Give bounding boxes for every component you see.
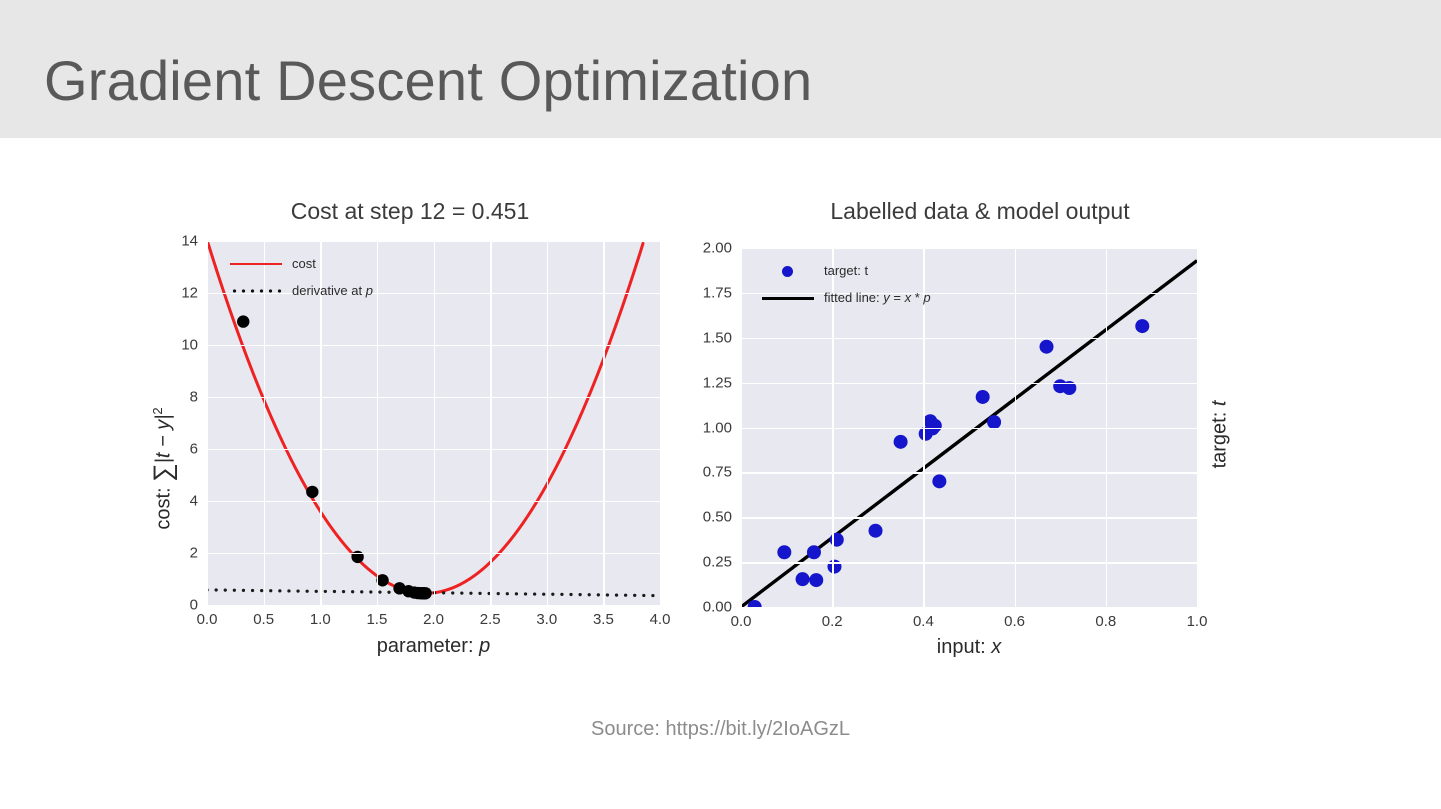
x-tick-label: 0.5 <box>253 611 274 628</box>
descent-step-point <box>419 587 431 599</box>
target-data-point <box>932 474 946 488</box>
target-data-point <box>1135 319 1149 333</box>
gridline-horizontal <box>741 338 1197 339</box>
gridline-horizontal <box>741 383 1197 384</box>
gridline-horizontal <box>741 428 1197 429</box>
gridline-horizontal <box>741 562 1197 563</box>
chart-panel-cost: Cost at step 12 = 0.451 cost: ∑|t − y|2 … <box>140 198 680 698</box>
y-tick-label: 8 <box>140 389 198 406</box>
legend-item-derivative: derivative at p <box>230 283 373 298</box>
x-tick-label: 0.6 <box>1004 613 1025 630</box>
target-data-point <box>777 545 791 559</box>
x-tick-label: 1.0 <box>1187 613 1208 630</box>
x-tick-label: 1.0 <box>310 611 331 628</box>
target-data-point <box>869 524 883 538</box>
x-tick-label: 1.5 <box>366 611 387 628</box>
descent-step-point <box>237 315 249 327</box>
gridline-vertical <box>1106 248 1107 607</box>
y-tick-label: 2.00 <box>700 240 732 257</box>
gridline-horizontal <box>741 248 1197 249</box>
y-tick-label: 0 <box>140 597 198 614</box>
legend-label-target: target: t <box>824 263 868 278</box>
x-axis-label-data: input: x <box>741 636 1197 659</box>
slide-canvas: Gradient Descent Optimization Cost at st… <box>0 0 1441 809</box>
legend-item-cost: cost <box>230 256 316 271</box>
gridline-vertical <box>603 241 604 605</box>
legend-data: target: t fitted line: y = x * p <box>762 263 1022 323</box>
y-axis-label-data-right: target: t <box>1209 370 1232 500</box>
legend-item-fitted-line: fitted line: y = x * p <box>762 290 931 305</box>
x-tick-label: 0.4 <box>913 613 934 630</box>
legend-item-target: target: t <box>762 263 868 278</box>
chart-title-data: Labelled data & model output <box>700 198 1260 225</box>
target-data-point <box>809 573 823 587</box>
chart-panel-data: Labelled data & model output 0.000.250.5… <box>700 198 1260 698</box>
y-tick-label: 1.25 <box>700 374 732 391</box>
figure-container: Cost at step 12 = 0.451 cost: ∑|t − y|2 … <box>0 138 1441 809</box>
x-axis-label-cost: parameter: p <box>207 635 660 658</box>
x-tick-label: 0.8 <box>1095 613 1116 630</box>
y-tick-label: 4 <box>140 493 198 510</box>
descent-step-point <box>306 486 318 498</box>
y-tick-label: 1.50 <box>700 329 732 346</box>
x-tick-label: 0.0 <box>731 613 752 630</box>
y-tick-label: 0.25 <box>700 554 732 571</box>
x-tick-label: 4.0 <box>650 611 671 628</box>
gridline-vertical <box>547 241 548 605</box>
y-tick-label: 1.75 <box>700 284 732 301</box>
x-tick-label: 3.0 <box>536 611 557 628</box>
y-tick-label: 0.00 <box>700 599 732 616</box>
x-tick-label: 2.0 <box>423 611 444 628</box>
target-data-point <box>928 419 942 433</box>
target-data-point <box>796 572 810 586</box>
y-tick-label: 2 <box>140 545 198 562</box>
target-data-point <box>976 390 990 404</box>
source-note: Source: https://bit.ly/2IoAGzL <box>0 718 1441 741</box>
target-data-point <box>807 545 821 559</box>
legend-key-target-marker <box>762 264 814 278</box>
y-tick-label: 0.75 <box>700 464 732 481</box>
y-tick-label: 0.50 <box>700 509 732 526</box>
gridline-vertical <box>207 241 208 605</box>
legend-label-derivative: derivative at p <box>292 283 373 298</box>
y-tick-label: 6 <box>140 441 198 458</box>
page-title: Gradient Descent Optimization <box>44 48 812 113</box>
legend-cost: cost derivative at p <box>230 256 470 316</box>
gridline-vertical <box>741 248 742 607</box>
y-tick-label: 12 <box>140 285 198 302</box>
legend-label-cost: cost <box>292 256 316 271</box>
legend-key-derivative-line <box>230 284 282 298</box>
x-tick-label: 0.0 <box>197 611 218 628</box>
target-data-point <box>894 435 908 449</box>
chart-title-cost: Cost at step 12 = 0.451 <box>140 198 680 225</box>
gridline-horizontal <box>741 517 1197 518</box>
legend-label-fitted-line: fitted line: y = x * p <box>824 290 931 305</box>
x-tick-label: 0.2 <box>822 613 843 630</box>
legend-key-fitted-line <box>762 291 814 305</box>
x-tick-label: 3.5 <box>593 611 614 628</box>
gridline-vertical <box>490 241 491 605</box>
y-tick-label: 14 <box>140 233 198 250</box>
y-tick-label: 10 <box>140 337 198 354</box>
gridline-horizontal <box>741 472 1197 473</box>
x-tick-label: 2.5 <box>480 611 501 628</box>
legend-key-cost-line <box>230 257 282 271</box>
target-data-point <box>1040 340 1054 354</box>
y-tick-label: 1.00 <box>700 419 732 436</box>
